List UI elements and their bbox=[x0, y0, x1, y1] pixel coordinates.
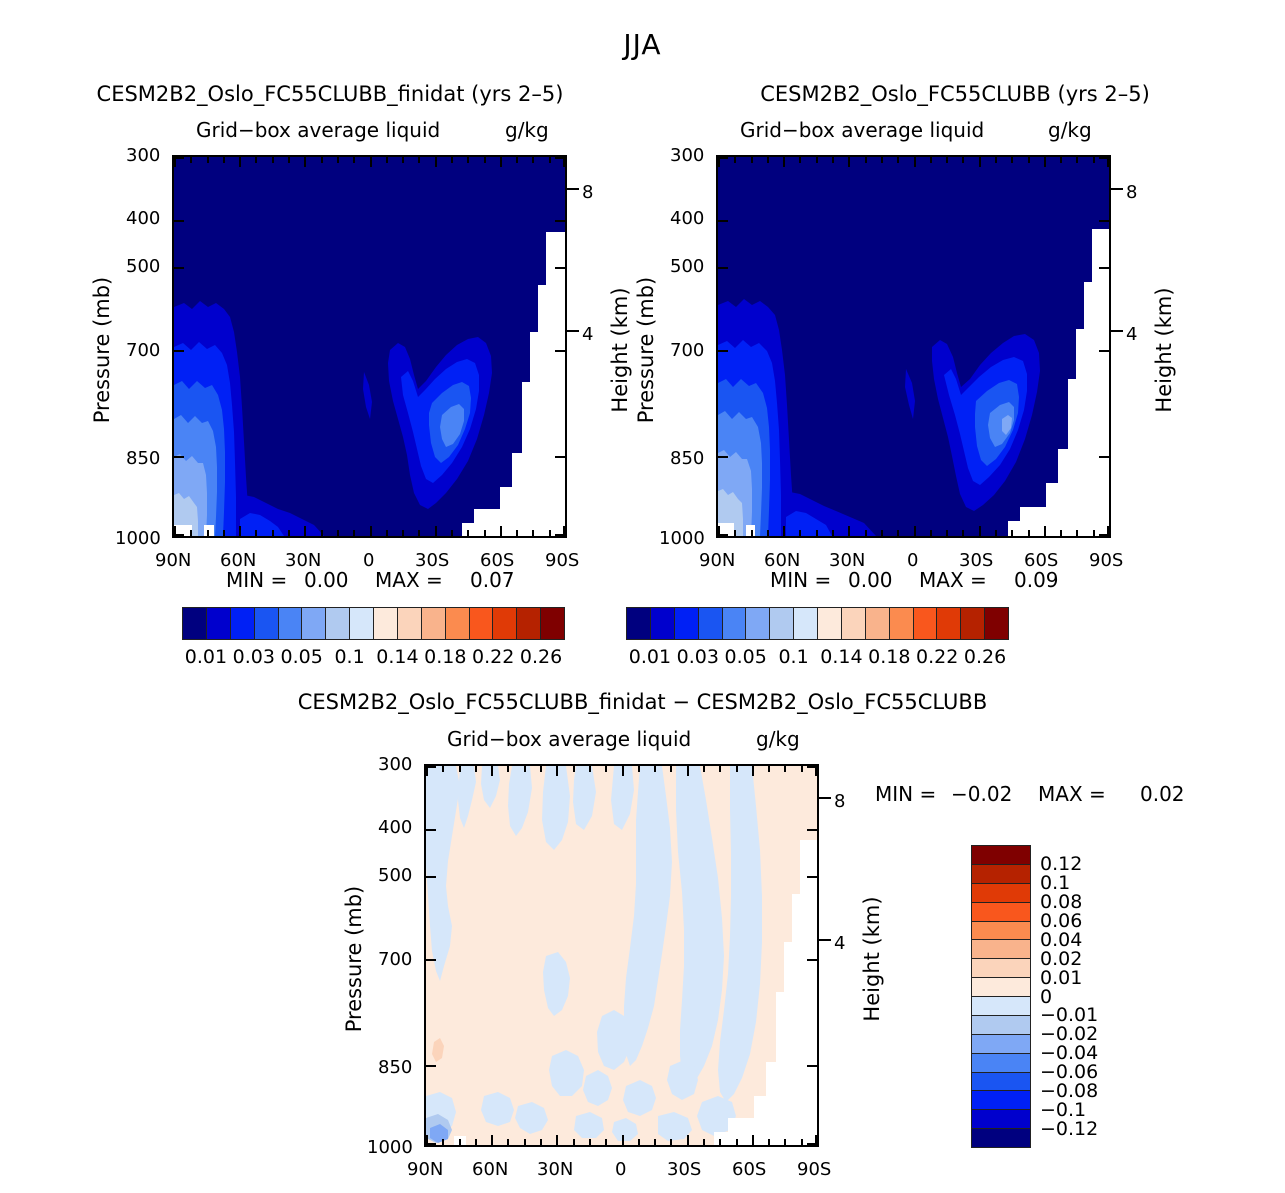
x-tick bbox=[799, 530, 801, 536]
x-tick bbox=[418, 530, 420, 536]
y-tick bbox=[174, 350, 184, 352]
x-tick bbox=[540, 1139, 542, 1145]
x-tick bbox=[524, 766, 526, 772]
x-tick bbox=[897, 530, 899, 536]
colorbar-label-7: 0.26 bbox=[964, 646, 1006, 668]
x-tick bbox=[223, 157, 225, 163]
x-tick bbox=[995, 157, 997, 163]
x-tick bbox=[605, 1139, 607, 1145]
y-tick bbox=[807, 959, 817, 961]
x-tick bbox=[832, 530, 834, 536]
legend-cell-2 bbox=[972, 883, 1030, 902]
x-tick bbox=[736, 766, 738, 772]
x-tick bbox=[930, 530, 932, 536]
panel-difference-contour-field bbox=[426, 766, 817, 1145]
x-tick bbox=[767, 530, 769, 536]
panel-test-colorbar-labels: 0.010.030.050.10.140.180.220.26 bbox=[182, 646, 565, 672]
panel-difference-xtick-60S: 60S bbox=[732, 1159, 766, 1180]
colorbar-label-3: 0.1 bbox=[334, 646, 364, 668]
colorbar-cell-4 bbox=[722, 608, 746, 639]
y-tick bbox=[718, 220, 728, 222]
legend-cell-9 bbox=[972, 1015, 1030, 1034]
x-tick bbox=[751, 530, 753, 536]
colorbar-cell-12 bbox=[469, 608, 493, 639]
x-tick bbox=[321, 157, 323, 163]
x-tick bbox=[719, 766, 721, 772]
panel-control-min-value: 0.00 bbox=[848, 568, 893, 592]
panel-test-contour-field bbox=[174, 157, 565, 536]
y-tick bbox=[807, 829, 817, 831]
y-tick bbox=[718, 350, 728, 352]
panel-difference-ytick-850: 850 bbox=[378, 1057, 412, 1078]
panel-test-colorbar[interactable] bbox=[182, 607, 565, 640]
x-tick bbox=[190, 530, 192, 536]
colorbar-label-6: 0.22 bbox=[472, 646, 514, 668]
colorbar-cell-13 bbox=[936, 608, 960, 639]
panel-difference-xtick-30N: 30N bbox=[537, 1159, 573, 1180]
x-tick bbox=[556, 1135, 558, 1145]
panel-test-ytick-700: 700 bbox=[126, 340, 160, 361]
x-tick bbox=[605, 766, 607, 772]
season-title: JJA bbox=[0, 28, 1285, 61]
x-tick bbox=[1060, 157, 1062, 163]
x-tick bbox=[1060, 530, 1062, 536]
y-tick bbox=[555, 456, 565, 458]
x-tick bbox=[516, 157, 518, 163]
panel-difference-ytick-300: 300 bbox=[378, 754, 412, 775]
legend-cell-4 bbox=[972, 921, 1030, 940]
x-tick bbox=[1093, 157, 1095, 163]
colorbar-cell-5 bbox=[745, 608, 769, 639]
x-tick bbox=[549, 530, 551, 536]
panel-control-xtick-0: 0 bbox=[907, 550, 918, 571]
x-tick bbox=[979, 526, 981, 536]
x-tick bbox=[500, 526, 502, 536]
panel-control-xtick-90N: 90N bbox=[699, 550, 735, 571]
colorbar-label-0: 0.01 bbox=[629, 646, 671, 668]
panel-difference-xtick-30S: 30S bbox=[667, 1159, 701, 1180]
y-tick bbox=[1099, 350, 1109, 352]
panel-test-title: CESM2B2_Oslo_FC55CLUBB_finidat (yrs 2–5) bbox=[0, 82, 660, 106]
y-tick bbox=[426, 876, 436, 878]
colorbar-cell-7 bbox=[349, 608, 373, 639]
y-tick bbox=[426, 1143, 436, 1145]
colorbar-cell-1 bbox=[650, 608, 674, 639]
legend-cell-0 bbox=[972, 846, 1030, 864]
colorbar-cell-6 bbox=[325, 608, 349, 639]
panel-test-min-value: 0.00 bbox=[304, 568, 349, 592]
legend-cell-14 bbox=[972, 1109, 1030, 1128]
colorbar-cell-10 bbox=[865, 608, 889, 639]
x-tick bbox=[670, 1139, 672, 1145]
x-tick bbox=[507, 766, 509, 772]
panel-control-y2tick-4: 4 bbox=[1126, 324, 1137, 345]
x-tick bbox=[442, 1139, 444, 1145]
x-tick bbox=[784, 1139, 786, 1145]
x-tick bbox=[946, 157, 948, 163]
x-tick bbox=[1044, 157, 1046, 167]
x-tick bbox=[799, 157, 801, 163]
colorbar-cell-15 bbox=[984, 608, 1008, 639]
x-tick bbox=[783, 157, 785, 167]
panel-test-ytick-400: 400 bbox=[126, 208, 160, 229]
panel-test-ytick-300: 300 bbox=[126, 145, 160, 166]
x-tick bbox=[484, 157, 486, 163]
height-tick bbox=[819, 939, 831, 941]
x-tick bbox=[386, 157, 388, 163]
panel-difference-max-label: MAX = bbox=[1038, 782, 1106, 806]
colorbar-cell-8 bbox=[373, 608, 397, 639]
x-tick bbox=[255, 157, 257, 163]
x-tick bbox=[304, 526, 306, 536]
x-tick bbox=[475, 1139, 477, 1145]
x-tick bbox=[516, 530, 518, 536]
x-tick bbox=[734, 530, 736, 536]
panel-difference-title: CESM2B2_Oslo_FC55CLUBB_finidat − CESM2B2… bbox=[0, 690, 1285, 714]
x-tick bbox=[288, 530, 290, 536]
x-tick bbox=[687, 1135, 689, 1145]
y-tick bbox=[174, 456, 184, 458]
x-tick bbox=[801, 1139, 803, 1145]
y-tick bbox=[426, 766, 436, 768]
y-tick bbox=[174, 157, 184, 159]
x-tick bbox=[589, 766, 591, 772]
y-tick bbox=[807, 1143, 817, 1145]
y-tick bbox=[718, 456, 728, 458]
y-tick bbox=[1099, 456, 1109, 458]
x-tick bbox=[768, 766, 770, 772]
x-tick bbox=[816, 157, 818, 163]
colorbar-cell-14 bbox=[516, 608, 540, 639]
x-tick bbox=[532, 530, 534, 536]
x-tick bbox=[1011, 157, 1013, 163]
x-tick bbox=[491, 766, 493, 776]
y-tick bbox=[1099, 220, 1109, 222]
y-tick bbox=[718, 267, 728, 269]
panel-difference-ytick-700: 700 bbox=[378, 949, 412, 970]
panel-control-ytick-500: 500 bbox=[670, 256, 704, 277]
panel-difference-subtitle-right: g/kg bbox=[756, 727, 800, 751]
panel-difference-y2tick-4: 4 bbox=[834, 933, 845, 954]
x-tick bbox=[589, 1139, 591, 1145]
x-tick bbox=[865, 530, 867, 536]
legend-cell-7 bbox=[972, 977, 1030, 996]
x-tick bbox=[995, 530, 997, 536]
x-tick bbox=[703, 1139, 705, 1145]
legend-cell-15 bbox=[972, 1128, 1030, 1147]
height-tick bbox=[1111, 330, 1123, 332]
colorbar-cell-5 bbox=[301, 608, 325, 639]
colorbar-label-2: 0.05 bbox=[725, 646, 767, 668]
x-tick bbox=[881, 530, 883, 536]
panel-test-max-label: MAX = bbox=[375, 568, 443, 592]
height-tick bbox=[567, 330, 579, 332]
y-tick bbox=[555, 157, 565, 159]
colorbar-cell-14 bbox=[960, 608, 984, 639]
panel-control-min-label: MIN = bbox=[770, 568, 831, 592]
y-tick bbox=[555, 350, 565, 352]
legend-cell-13 bbox=[972, 1090, 1030, 1109]
colorbar-label-2: 0.05 bbox=[281, 646, 323, 668]
legend-cell-10 bbox=[972, 1034, 1030, 1053]
colorbar-cell-3 bbox=[698, 608, 722, 639]
x-tick bbox=[370, 526, 372, 536]
panel-control-colorbar[interactable] bbox=[626, 607, 1009, 640]
x-tick bbox=[946, 530, 948, 536]
x-tick bbox=[1011, 530, 1013, 536]
panel-difference-legend[interactable] bbox=[971, 845, 1031, 1148]
x-tick bbox=[435, 526, 437, 536]
panel-test-ytick-1000: 1000 bbox=[115, 528, 161, 549]
x-tick bbox=[475, 766, 477, 772]
x-tick bbox=[467, 157, 469, 163]
x-tick bbox=[573, 766, 575, 772]
panel-control-ylabel: Pressure (mb) bbox=[634, 240, 658, 460]
colorbar-label-0: 0.01 bbox=[185, 646, 227, 668]
x-tick bbox=[353, 157, 355, 163]
legend-cell-11 bbox=[972, 1053, 1030, 1072]
panel-difference-y2tick-8: 8 bbox=[834, 791, 845, 812]
x-tick bbox=[752, 1135, 754, 1145]
x-tick bbox=[734, 157, 736, 163]
legend-cell-3 bbox=[972, 902, 1030, 921]
panel-difference-plot-frame[interactable] bbox=[424, 764, 819, 1147]
x-tick bbox=[752, 766, 754, 776]
x-tick bbox=[402, 530, 404, 536]
panel-control-xtick-90S: 90S bbox=[1089, 550, 1123, 571]
x-tick bbox=[337, 157, 339, 163]
x-tick bbox=[897, 157, 899, 163]
panel-control-ytick-850: 850 bbox=[670, 448, 704, 469]
panel-test-min-label: MIN = bbox=[226, 568, 287, 592]
colorbar-label-5: 0.18 bbox=[424, 646, 466, 668]
x-tick bbox=[442, 766, 444, 772]
panel-difference-xtick-0: 0 bbox=[615, 1159, 626, 1180]
x-tick bbox=[540, 766, 542, 772]
panel-difference-max-value: 0.02 bbox=[1140, 782, 1185, 806]
colorbar-cell-0 bbox=[627, 608, 650, 639]
legend-cell-12 bbox=[972, 1072, 1030, 1091]
y-tick bbox=[555, 534, 565, 536]
x-tick bbox=[190, 157, 192, 163]
y-tick bbox=[1099, 267, 1109, 269]
x-tick bbox=[386, 530, 388, 536]
panel-control-plot-frame[interactable] bbox=[716, 155, 1111, 538]
panel-test-y2tick-4: 4 bbox=[582, 324, 593, 345]
colorbar-label-4: 0.14 bbox=[376, 646, 418, 668]
x-tick bbox=[207, 157, 209, 163]
colorbar-cell-2 bbox=[230, 608, 254, 639]
x-tick bbox=[500, 157, 502, 167]
colorbar-label-1: 0.03 bbox=[677, 646, 719, 668]
colorbar-cell-13 bbox=[492, 608, 516, 639]
x-tick bbox=[1028, 157, 1030, 163]
colorbar-cell-8 bbox=[817, 608, 841, 639]
x-tick bbox=[816, 530, 818, 536]
x-tick bbox=[451, 157, 453, 163]
x-tick bbox=[1076, 530, 1078, 536]
x-tick bbox=[337, 530, 339, 536]
x-tick bbox=[638, 766, 640, 772]
panel-control-colorbar-labels: 0.010.030.050.10.140.180.220.26 bbox=[626, 646, 1009, 672]
panel-difference-ytick-400: 400 bbox=[378, 817, 412, 838]
colorbar-cell-11 bbox=[445, 608, 469, 639]
panel-test-xtick-90N: 90N bbox=[155, 550, 191, 571]
colorbar-label-4: 0.14 bbox=[820, 646, 862, 668]
panel-test-y2tick-8: 8 bbox=[582, 182, 593, 203]
x-tick bbox=[979, 157, 981, 167]
colorbar-label-7: 0.26 bbox=[520, 646, 562, 668]
x-tick bbox=[549, 157, 551, 163]
x-tick bbox=[962, 157, 964, 163]
panel-control-y2tick-8: 8 bbox=[1126, 182, 1137, 203]
panel-difference-xtick-60N: 60N bbox=[472, 1159, 508, 1180]
x-tick bbox=[451, 530, 453, 536]
x-tick bbox=[736, 1139, 738, 1145]
y-tick bbox=[555, 220, 565, 222]
y-tick bbox=[807, 766, 817, 768]
panel-difference-ytick-1000: 1000 bbox=[367, 1137, 413, 1158]
y-tick bbox=[718, 534, 728, 536]
panel-control-ytick-1000: 1000 bbox=[659, 528, 705, 549]
x-tick bbox=[768, 1139, 770, 1145]
colorbar-cell-11 bbox=[889, 608, 913, 639]
panel-test-ytick-500: 500 bbox=[126, 256, 160, 277]
x-tick bbox=[272, 157, 274, 163]
x-tick bbox=[783, 526, 785, 536]
legend-label-14: −0.12 bbox=[1040, 1118, 1140, 1140]
colorbar-cell-3 bbox=[254, 608, 278, 639]
x-tick bbox=[638, 1139, 640, 1145]
x-tick bbox=[670, 766, 672, 772]
x-tick bbox=[353, 530, 355, 536]
colorbar-cell-1 bbox=[206, 608, 230, 639]
x-tick bbox=[223, 530, 225, 536]
panel-difference-min-label: MIN = bbox=[875, 782, 936, 806]
panel-test-plot-frame[interactable] bbox=[172, 155, 567, 538]
x-tick bbox=[556, 766, 558, 776]
y-tick bbox=[718, 157, 728, 159]
x-tick bbox=[767, 157, 769, 163]
x-tick bbox=[272, 530, 274, 536]
x-tick bbox=[914, 526, 916, 536]
x-tick bbox=[459, 1139, 461, 1145]
y-tick bbox=[1099, 157, 1109, 159]
x-tick bbox=[1093, 530, 1095, 536]
x-tick bbox=[321, 530, 323, 536]
panel-test-subtitle-left: Grid−box average liquid bbox=[196, 118, 440, 142]
x-tick bbox=[622, 1135, 624, 1145]
x-tick bbox=[255, 530, 257, 536]
x-tick bbox=[484, 530, 486, 536]
legend-cell-1 bbox=[972, 864, 1030, 883]
x-tick bbox=[418, 157, 420, 163]
panel-control-subtitle-right: g/kg bbox=[1048, 118, 1092, 142]
panel-test-ytick-850: 850 bbox=[126, 448, 160, 469]
x-tick bbox=[239, 526, 241, 536]
x-tick bbox=[622, 766, 624, 776]
colorbar-cell-12 bbox=[913, 608, 937, 639]
x-tick bbox=[459, 766, 461, 772]
panel-control-title: CESM2B2_Oslo_FC55CLUBB (yrs 2–5) bbox=[625, 82, 1285, 106]
x-tick bbox=[435, 157, 437, 167]
x-tick bbox=[370, 157, 372, 167]
legend-cell-5 bbox=[972, 939, 1030, 958]
colorbar-label-1: 0.03 bbox=[233, 646, 275, 668]
panel-difference-xtick-90N: 90N bbox=[407, 1159, 443, 1180]
legend-cell-8 bbox=[972, 996, 1030, 1015]
panel-control-y2label: Height (km) bbox=[1152, 240, 1176, 460]
x-tick bbox=[402, 157, 404, 163]
x-tick bbox=[654, 1139, 656, 1145]
colorbar-label-6: 0.22 bbox=[916, 646, 958, 668]
x-tick bbox=[703, 766, 705, 772]
x-tick bbox=[784, 766, 786, 772]
height-tick bbox=[1111, 188, 1123, 190]
x-tick bbox=[1028, 530, 1030, 536]
y-tick bbox=[426, 959, 436, 961]
x-tick bbox=[865, 157, 867, 163]
x-tick bbox=[288, 157, 290, 163]
colorbar-cell-15 bbox=[540, 608, 564, 639]
panel-test-subtitle-right: g/kg bbox=[505, 118, 549, 142]
panel-control-ytick-400: 400 bbox=[670, 208, 704, 229]
y-tick bbox=[807, 1065, 817, 1067]
x-tick bbox=[207, 530, 209, 536]
y-tick bbox=[555, 267, 565, 269]
x-tick bbox=[491, 1135, 493, 1145]
y-tick bbox=[426, 1065, 436, 1067]
x-tick bbox=[654, 766, 656, 772]
x-tick bbox=[1076, 157, 1078, 163]
colorbar-cell-9 bbox=[841, 608, 865, 639]
panel-test-ylabel: Pressure (mb) bbox=[90, 240, 114, 460]
x-tick bbox=[848, 157, 850, 167]
panel-difference-subtitle-left: Grid−box average liquid bbox=[447, 727, 691, 751]
height-tick bbox=[819, 797, 831, 799]
colorbar-cell-9 bbox=[397, 608, 421, 639]
x-tick bbox=[1044, 526, 1046, 536]
panel-test-max-value: 0.07 bbox=[470, 568, 515, 592]
legend-cell-6 bbox=[972, 958, 1030, 977]
x-tick bbox=[751, 157, 753, 163]
panel-test-xtick-90S: 90S bbox=[545, 550, 579, 571]
x-tick bbox=[573, 1139, 575, 1145]
x-tick bbox=[801, 766, 803, 772]
x-tick bbox=[507, 1139, 509, 1145]
colorbar-cell-2 bbox=[674, 608, 698, 639]
x-tick bbox=[832, 157, 834, 163]
y-tick bbox=[1099, 534, 1109, 536]
y-tick bbox=[807, 876, 817, 878]
panel-difference-y2label: Height (km) bbox=[860, 849, 884, 1069]
x-tick bbox=[524, 1139, 526, 1145]
x-tick bbox=[532, 157, 534, 163]
colorbar-cell-6 bbox=[769, 608, 793, 639]
x-tick bbox=[719, 1139, 721, 1145]
panel-difference-min-value: −0.02 bbox=[951, 782, 1012, 806]
y-tick bbox=[174, 267, 184, 269]
colorbar-cell-0 bbox=[183, 608, 206, 639]
x-tick bbox=[881, 157, 883, 163]
colorbar-label-3: 0.1 bbox=[778, 646, 808, 668]
panel-test-y2label: Height (km) bbox=[608, 240, 632, 460]
colorbar-cell-4 bbox=[278, 608, 302, 639]
colorbar-cell-7 bbox=[793, 608, 817, 639]
x-tick bbox=[962, 530, 964, 536]
panel-control-ytick-700: 700 bbox=[670, 340, 704, 361]
panel-control-contour-field bbox=[718, 157, 1109, 536]
